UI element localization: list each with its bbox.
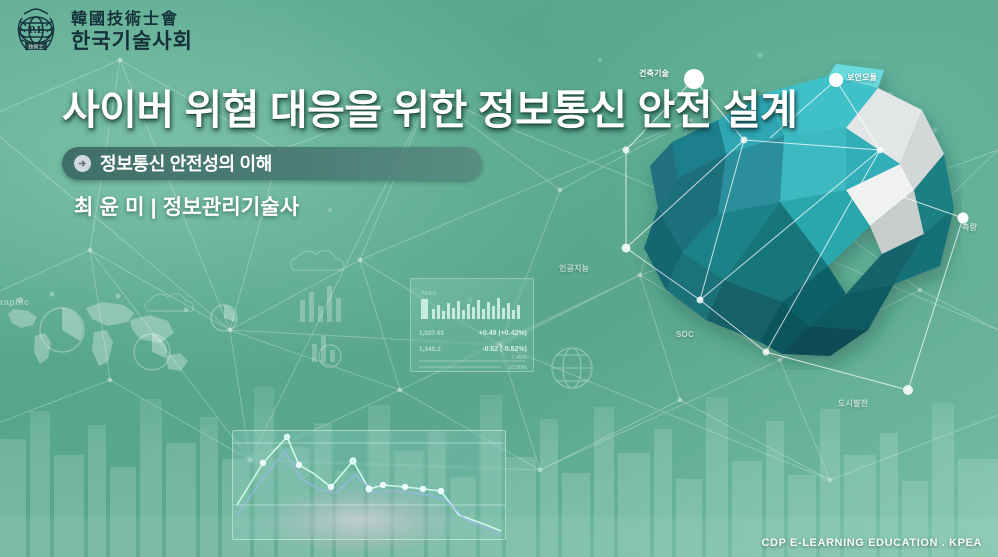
title-block: 사이버 위협 대응을 위한 정보통신 안전 설계 정보통신 안전성의 이해 최 … — [62, 88, 822, 221]
node-label-urban: 도시발전 — [838, 398, 868, 409]
footer-branding: CDP E-LEARNING EDUCATION . KPEA — [762, 537, 982, 549]
node-label-architecture: 건축기술 — [639, 68, 669, 79]
svg-text:10.86%: 10.86% — [508, 365, 527, 371]
emblem-initials: P.E — [28, 26, 43, 36]
stock-chart-card: INDEX 1,027.61 1,345.2 +0.49 (+0.42%) -0… — [410, 278, 534, 372]
node-label-soc: SOC — [676, 330, 694, 339]
logo-hanja: 韓國技術士會 — [71, 11, 193, 27]
presenter-name: 최 윤 미 | 정보관리기술사 — [74, 191, 822, 221]
page-title: 사이버 위협 대응을 위한 정보통신 안전 설계 — [62, 88, 822, 134]
svg-text:技術士: 技術士 — [28, 44, 43, 51]
professional-engineer-emblem-icon: P.E 技術士 — [10, 6, 62, 56]
line-chart-graphic — [233, 431, 505, 539]
line-chart-card — [232, 430, 506, 540]
node-label-survey: 측량 — [962, 222, 977, 233]
svg-text:-0.62 (-0.52%): -0.62 (-0.52%) — [482, 346, 527, 353]
logo-wordmark: 韓國技術士會 한국기술사회 — [71, 11, 193, 51]
infographic-caption: raphic — [0, 297, 29, 307]
svg-text:1,027.61: 1,027.61 — [419, 330, 445, 337]
node-label-security: 보안모듈 — [847, 72, 877, 83]
svg-text:1,345.2: 1,345.2 — [419, 346, 441, 353]
subtitle-pill: 정보통신 안전성의 이해 — [62, 147, 482, 180]
arrow-right-circle-icon — [74, 155, 91, 172]
svg-text:7.45%: 7.45% — [511, 355, 527, 361]
title-slide: INDEX 1,027.61 1,345.2 +0.49 (+0.42%) -0… — [0, 0, 998, 557]
logo-hangul: 한국기술사회 — [71, 30, 193, 51]
stock-chart-graphic: INDEX 1,027.61 1,345.2 +0.49 (+0.42%) -0… — [411, 279, 533, 371]
svg-text:+0.49 (+0.42%): +0.49 (+0.42%) — [479, 330, 527, 337]
subtitle-text: 정보통신 안전성의 이해 — [100, 150, 272, 176]
organization-logo: P.E 技術士 韓國技術士會 한국기술사회 — [10, 6, 193, 56]
svg-text:INDEX: INDEX — [421, 291, 437, 297]
node-label-ai: 인공지능 — [559, 263, 589, 274]
